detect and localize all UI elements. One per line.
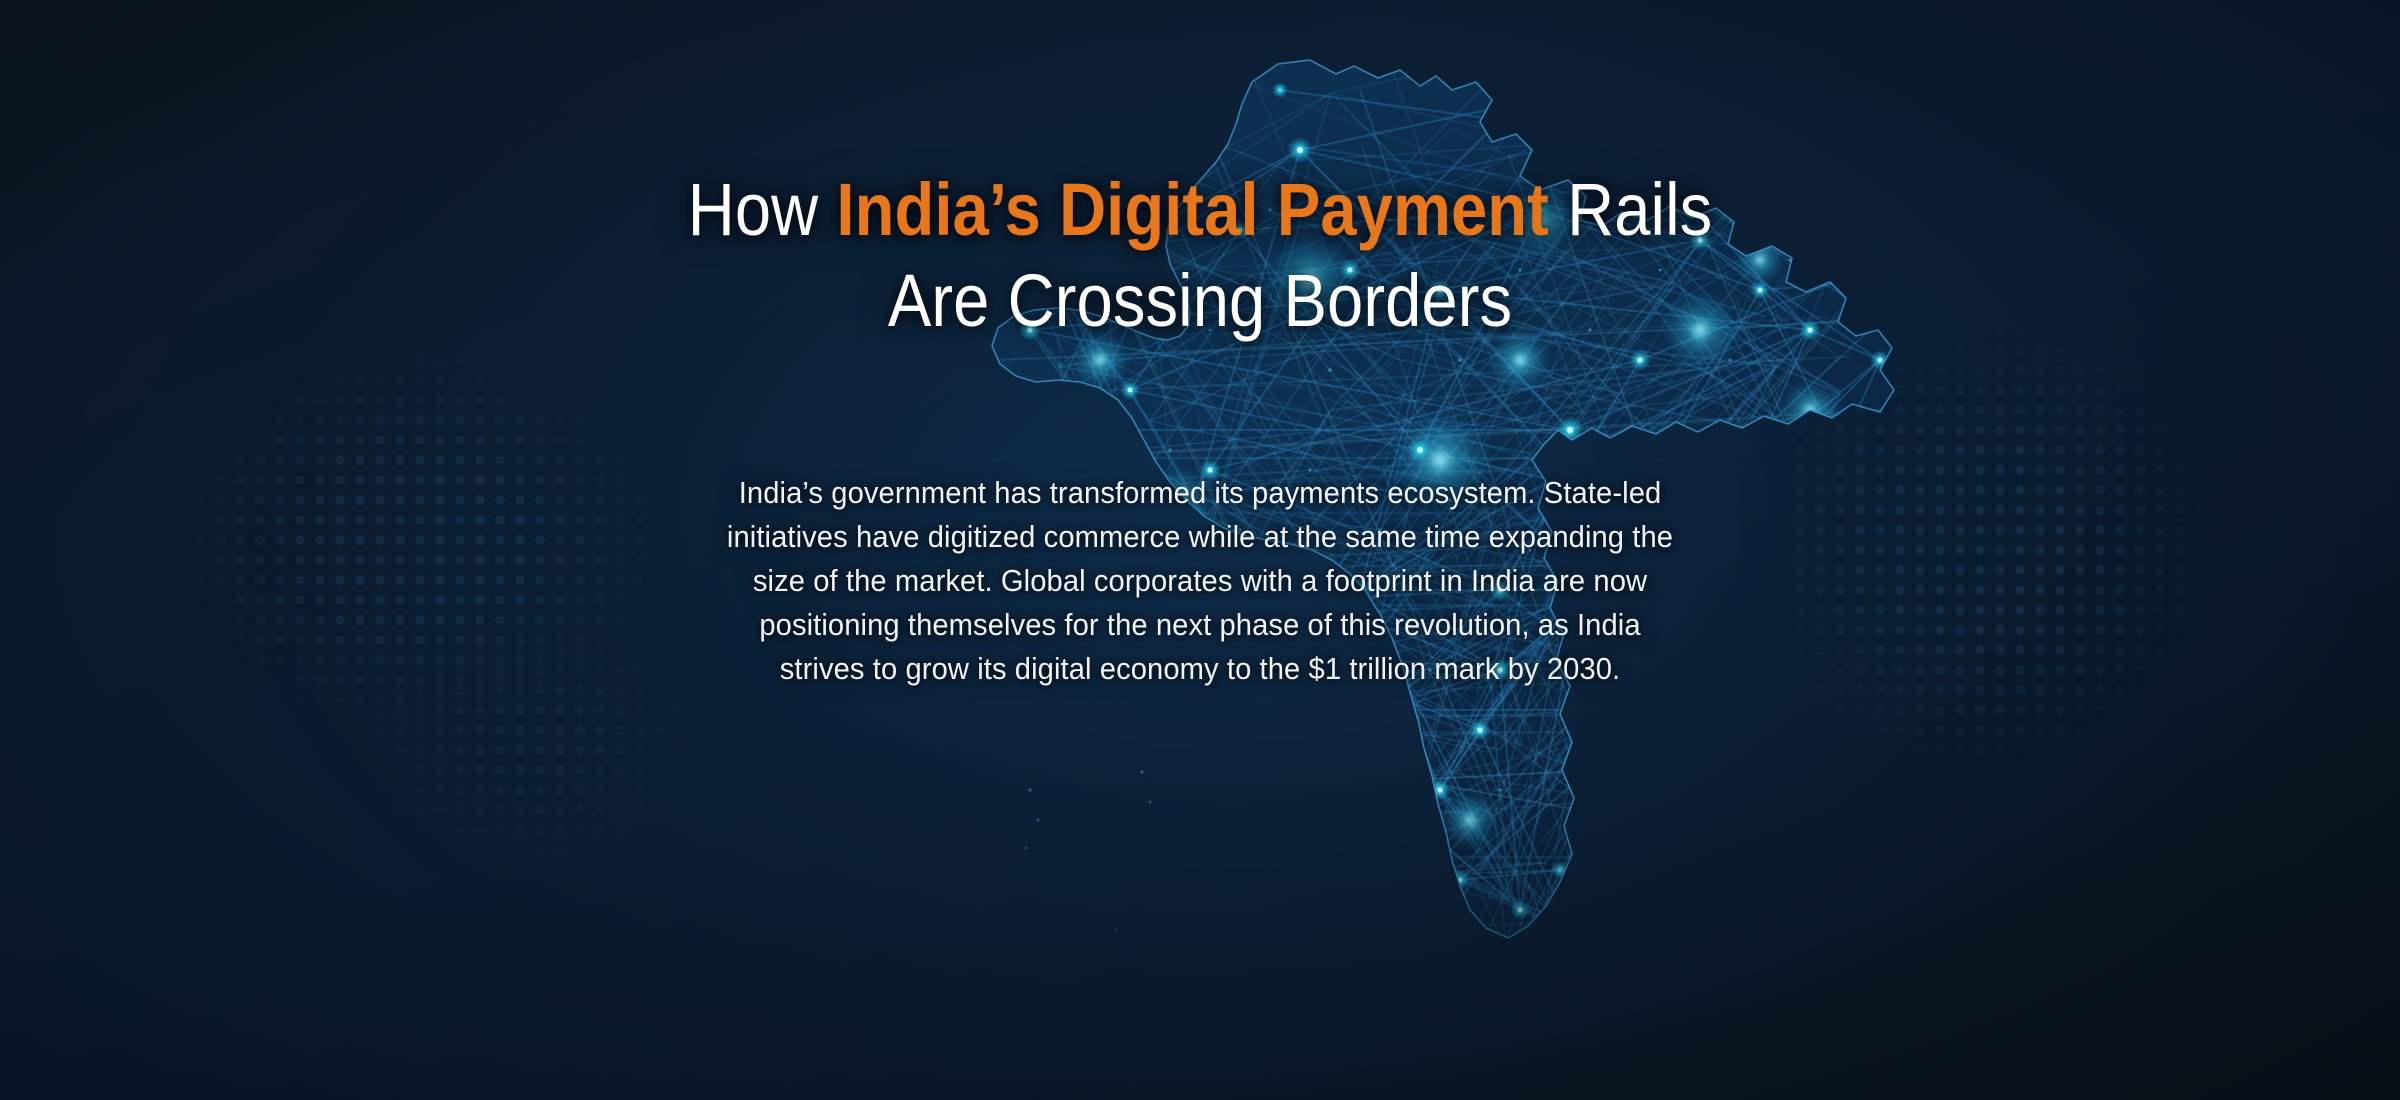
halftone-dot-field-lower xyxy=(330,620,730,920)
halftone-dot-field-left xyxy=(150,330,670,770)
hero-banner: How India’s Digital Payment Rails Are Cr… xyxy=(0,0,2400,1100)
india-network-map xyxy=(880,30,1940,1080)
headline-prefix: How xyxy=(688,168,837,251)
